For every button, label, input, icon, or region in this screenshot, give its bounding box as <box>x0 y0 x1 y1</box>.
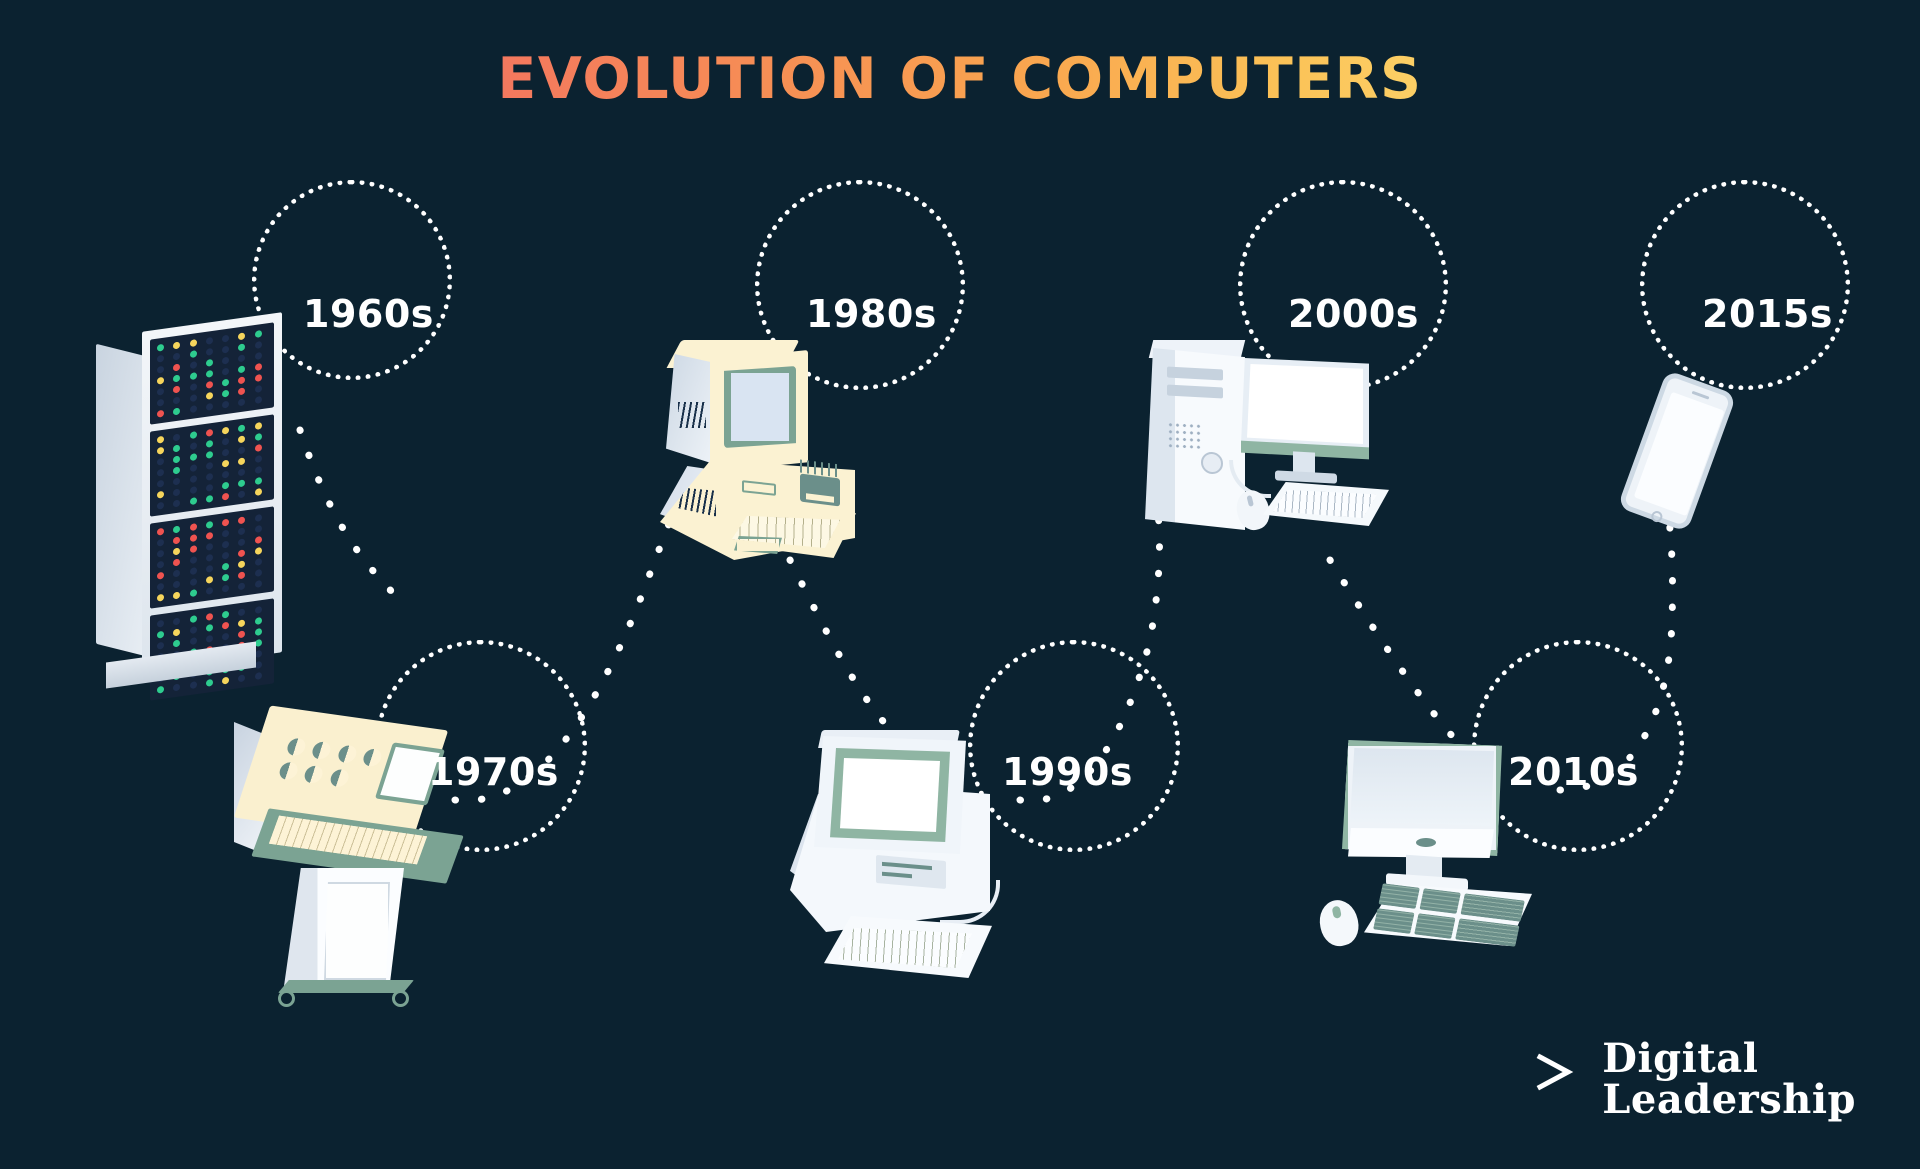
tower-speaker-grill <box>1167 421 1201 449</box>
console-knob[interactable] <box>361 748 384 767</box>
mainframe-led <box>157 355 164 363</box>
mainframe-led <box>206 451 213 459</box>
mainframe-led <box>157 539 164 547</box>
mainframe-led <box>206 679 213 687</box>
device-tower-pc-with-lcd-monitor <box>1145 340 1395 570</box>
mainframe-led <box>255 385 262 393</box>
mainframe-led <box>255 547 262 555</box>
console-knob[interactable] <box>277 761 300 780</box>
decade-label-2015s: 2015s <box>1702 292 1833 336</box>
smartphone-earpiece <box>1692 391 1710 400</box>
mainframe-led <box>206 348 213 356</box>
mainframe-led <box>255 396 262 404</box>
mainframe-led <box>206 473 213 481</box>
mainframe-led <box>222 633 229 641</box>
mainframe-led <box>173 525 180 533</box>
mainframe-led <box>173 396 180 404</box>
mainframe-led <box>173 569 180 577</box>
mainframe-led <box>255 606 262 614</box>
mainframe-led <box>190 681 197 689</box>
tower-power-button[interactable] <box>1201 451 1223 474</box>
mainframe-led <box>173 352 180 360</box>
console-knob[interactable] <box>336 744 359 763</box>
console-foot-bar <box>278 980 414 993</box>
mainframe-led <box>206 576 213 584</box>
mainframe-led <box>157 572 164 580</box>
mainframe-led <box>238 435 245 443</box>
computer-mouse[interactable] <box>1316 897 1363 950</box>
mainframe-led <box>238 479 245 487</box>
mainframe-led <box>222 493 229 501</box>
mainframe-led <box>190 383 197 391</box>
mainframe-led <box>255 422 262 430</box>
console-knob[interactable] <box>328 768 351 787</box>
mainframe-led <box>222 677 229 685</box>
mainframe-led <box>238 538 245 546</box>
mainframe-led <box>238 424 245 432</box>
mainframe-led <box>206 613 213 621</box>
mainframe-led <box>238 674 245 682</box>
mainframe-led <box>238 446 245 454</box>
mainframe-led <box>190 545 197 553</box>
mainframe-led <box>157 436 164 444</box>
mainframe-led <box>173 444 180 452</box>
page-title-container: EVOLUTION OF COMPUTERS <box>0 46 1920 112</box>
mainframe-led <box>238 527 245 535</box>
mainframe-led <box>190 637 197 645</box>
mainframe-led <box>238 468 245 476</box>
mainframe-led <box>238 354 245 362</box>
mainframe-led <box>157 583 164 591</box>
mainframe-led <box>238 332 245 340</box>
mainframe-led <box>157 686 164 694</box>
mainframe-led <box>255 536 262 544</box>
infographic-canvas: EVOLUTION OF COMPUTERS 1960s 1970s 1980s… <box>0 0 1920 1169</box>
mainframe-led <box>255 455 262 463</box>
mainframe-led <box>206 359 213 367</box>
mainframe-led <box>222 438 229 446</box>
mainframe-led <box>157 447 164 455</box>
workstation-vent <box>678 402 706 428</box>
keyboard-key-block[interactable] <box>1414 913 1456 939</box>
mainframe-led <box>190 361 197 369</box>
device-all-in-one-workstation <box>660 340 855 565</box>
mainframe-led <box>222 401 229 409</box>
mainframe-led <box>173 341 180 349</box>
mainframe-led <box>190 497 197 505</box>
mainframe-led <box>255 466 262 474</box>
mainframe-led <box>190 523 197 531</box>
mainframe-led <box>173 466 180 474</box>
mainframe-led <box>222 530 229 538</box>
console-caster-wheel <box>392 990 409 1007</box>
mainframe-led <box>190 350 197 358</box>
mainframe-led <box>206 381 213 389</box>
keyboard-key-block[interactable] <box>1373 908 1415 934</box>
mainframe-led <box>222 541 229 549</box>
mainframe-led <box>222 357 229 365</box>
brand-logo: Digital Leadership <box>1534 1038 1856 1121</box>
mainframe-led <box>222 335 229 343</box>
mainframe-led <box>157 480 164 488</box>
mainframe-led <box>173 385 180 393</box>
mainframe-led <box>222 574 229 582</box>
mainframe-led <box>238 560 245 568</box>
mainframe-led <box>238 398 245 406</box>
mainframe-led <box>206 440 213 448</box>
mainframe-led <box>190 453 197 461</box>
mainframe-led <box>222 552 229 560</box>
keyboard-key-block[interactable] <box>1420 888 1462 914</box>
mainframe-led <box>255 330 262 338</box>
mainframe-led <box>206 337 213 345</box>
mainframe-led <box>173 407 180 415</box>
device-console-terminal-cart <box>232 718 447 998</box>
brand-logo-text: Digital Leadership <box>1602 1038 1856 1121</box>
mainframe-led <box>173 580 180 588</box>
mainframe-led <box>206 532 213 540</box>
mainframe-led <box>157 399 164 407</box>
mainframe-led <box>255 628 262 636</box>
mainframe-led <box>255 514 262 522</box>
mainframe-led <box>157 388 164 396</box>
console-caster-wheel <box>278 990 295 1007</box>
workstation-floppy-drive[interactable] <box>800 474 840 507</box>
mainframe-led <box>190 626 197 634</box>
mainframe-led <box>206 554 213 562</box>
lcd-monitor-screen <box>1247 364 1363 444</box>
mainframe-led <box>255 352 262 360</box>
mainframe-led <box>190 394 197 402</box>
mainframe-led <box>157 528 164 536</box>
brand-logo-line1: Digital <box>1602 1038 1856 1080</box>
mainframe-led <box>173 683 180 691</box>
mainframe-led <box>206 392 213 400</box>
mainframe-led <box>173 363 180 371</box>
mainframe-led <box>255 374 262 382</box>
mainframe-led <box>238 365 245 373</box>
mainframe-led <box>222 379 229 387</box>
mainframe-led <box>190 372 197 380</box>
mainframe-led <box>222 368 229 376</box>
mainframe-led <box>255 580 262 588</box>
mainframe-led <box>255 363 262 371</box>
mainframe-led <box>173 547 180 555</box>
mainframe-led-panel <box>150 506 274 608</box>
mainframe-led <box>255 433 262 441</box>
mainframe-led <box>255 488 262 496</box>
mainframe-led <box>157 594 164 602</box>
mainframe-led <box>157 469 164 477</box>
mainframe-led <box>238 343 245 351</box>
arc-1960-to-1970 <box>300 430 400 600</box>
mainframe-led <box>157 620 164 628</box>
mainframe-led <box>206 565 213 573</box>
decade-label-2000s: 2000s <box>1288 292 1419 336</box>
mainframe-led <box>190 589 197 597</box>
mainframe-led-panel <box>150 322 274 424</box>
mainframe-led <box>206 429 213 437</box>
mainframe-led <box>222 460 229 468</box>
mainframe-led <box>190 486 197 494</box>
mainframe-led <box>206 495 213 503</box>
mainframe-led <box>157 642 164 650</box>
mainframe-led-panel <box>150 414 274 516</box>
keyboard-key-block[interactable] <box>1456 918 1520 946</box>
device-crt-desktop-computer <box>790 730 1010 990</box>
mainframe-led <box>206 543 213 551</box>
brand-logo-line2: Leadership <box>1602 1079 1856 1121</box>
mainframe-led <box>173 499 180 507</box>
mainframe-led <box>173 617 180 625</box>
arc-1980-to-1990 <box>790 560 900 740</box>
mainframe-led <box>222 611 229 619</box>
mainframe-led <box>238 376 245 384</box>
mainframe-led <box>173 374 180 382</box>
mainframe-led <box>190 534 197 542</box>
mainframe-led <box>190 578 197 586</box>
slim-desktop-screen <box>1350 748 1494 826</box>
mainframe-led <box>222 585 229 593</box>
mainframe-led <box>173 639 180 647</box>
mainframe-led <box>190 405 197 413</box>
mainframe-led <box>173 628 180 636</box>
console-cabinet-door <box>324 882 390 980</box>
device-mainframe-cabinet <box>96 322 306 672</box>
mainframe-led <box>238 549 245 557</box>
mainframe-led <box>255 672 262 680</box>
mainframe-led <box>255 341 262 349</box>
mainframe-led <box>255 569 262 577</box>
mainframe-led <box>206 635 213 643</box>
mainframe-led <box>190 442 197 450</box>
mainframe-led <box>222 346 229 354</box>
mainframe-led <box>255 525 262 533</box>
mainframe-led <box>238 582 245 590</box>
mainframe-led <box>173 536 180 544</box>
slim-desktop-logo-badge <box>1416 838 1436 847</box>
decade-label-2010s: 2010s <box>1508 750 1639 794</box>
mainframe-led <box>206 403 213 411</box>
decade-label-1970s: 1970s <box>428 750 559 794</box>
mainframe-led <box>222 390 229 398</box>
mainframe-led <box>157 550 164 558</box>
mainframe-led <box>222 449 229 457</box>
keyboard-key-block[interactable] <box>1378 883 1420 909</box>
lcd-monitor-stand <box>1275 470 1337 483</box>
decade-label-1980s: 1980s <box>806 292 937 336</box>
mainframe-led <box>157 561 164 569</box>
mainframe-led <box>238 619 245 627</box>
mainframe-led <box>157 377 164 385</box>
smartphone-home-button[interactable] <box>1650 510 1664 524</box>
device-all-in-one-slim-desktop <box>1320 740 1540 970</box>
desktop-screen <box>840 758 940 832</box>
decade-label-1990s: 1990s <box>1002 750 1133 794</box>
mainframe-led <box>238 630 245 638</box>
mainframe-side-panel <box>96 344 146 656</box>
mainframe-led <box>173 558 180 566</box>
page-title: EVOLUTION OF COMPUTERS <box>497 46 1422 112</box>
mainframe-led <box>238 571 245 579</box>
mainframe-led <box>222 519 229 527</box>
console-knob[interactable] <box>303 765 326 784</box>
decade-label-1960s: 1960s <box>303 292 434 336</box>
mainframe-led <box>157 631 164 639</box>
mainframe-led <box>222 622 229 630</box>
mainframe-led <box>238 490 245 498</box>
mainframe-led <box>173 433 180 441</box>
mainframe-led <box>255 558 262 566</box>
mainframe-led <box>190 475 197 483</box>
mainframe-led <box>157 491 164 499</box>
mainframe-led <box>206 624 213 632</box>
mainframe-led <box>238 387 245 395</box>
console-knob[interactable] <box>285 737 308 756</box>
mainframe-front-face <box>142 312 282 672</box>
mainframe-led <box>173 488 180 496</box>
mainframe-led <box>206 484 213 492</box>
mainframe-led <box>238 608 245 616</box>
mainframe-led <box>173 477 180 485</box>
mainframe-led <box>222 482 229 490</box>
mainframe-led <box>206 462 213 470</box>
mainframe-led <box>255 477 262 485</box>
device-smartphone <box>1640 378 1750 538</box>
mainframe-led <box>190 431 197 439</box>
mainframe-led <box>190 464 197 472</box>
mainframe-led <box>206 521 213 529</box>
mainframe-led <box>255 444 262 452</box>
arc-2000-to-2010 <box>1330 560 1460 745</box>
mainframe-led <box>157 410 164 418</box>
mainframe-led <box>206 370 213 378</box>
mainframe-led <box>173 591 180 599</box>
mainframe-led <box>238 457 245 465</box>
mainframe-led <box>190 556 197 564</box>
console-knob[interactable] <box>310 741 333 760</box>
mainframe-led <box>157 366 164 374</box>
mainframe-led <box>190 567 197 575</box>
smartphone-screen[interactable] <box>1634 392 1725 516</box>
workstation-screen <box>724 366 796 448</box>
mainframe-led <box>157 502 164 510</box>
mainframe-led <box>190 615 197 623</box>
mainframe-led <box>238 516 245 524</box>
mainframe-led <box>222 563 229 571</box>
mainframe-led <box>157 458 164 466</box>
mainframe-led <box>222 471 229 479</box>
mainframe-led <box>255 617 262 625</box>
mainframe-led <box>190 339 197 347</box>
mainframe-led <box>157 344 164 352</box>
chevron-mark-icon <box>1534 1051 1580 1107</box>
mainframe-led <box>206 587 213 595</box>
circle-2015s <box>1640 180 1850 390</box>
mainframe-led <box>173 455 180 463</box>
mainframe-led <box>222 427 229 435</box>
